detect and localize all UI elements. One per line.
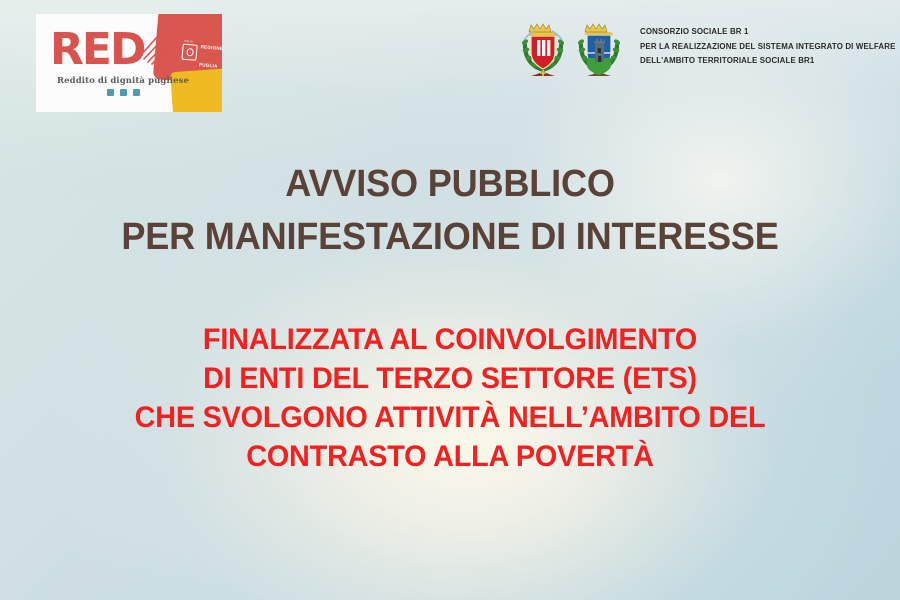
regione-puglia-seal-top-text: ITALIA — [184, 40, 198, 44]
subtitle-block: FINALIZZATA AL COINVOLGIMENTO DI ENTI DE… — [0, 320, 900, 476]
hand-icon — [140, 32, 166, 66]
title-line-2: PER MANIFESTAZIONE DI INTERESSE — [23, 211, 878, 264]
red-wordmark-text: RED — [50, 24, 144, 75]
title-line-1: AVVISO PUBBLICO — [23, 158, 878, 211]
subtitle-line-3: CHE SVOLGONO ATTIVITÀ NELL’AMBITO DEL — [18, 398, 882, 437]
red-dot-2 — [120, 89, 127, 96]
red-dot-1 — [107, 89, 114, 96]
subtitle-line-4: CONTRASTO ALLA POVERTÀ — [18, 437, 882, 476]
consorzio-text-block: CONSORZIO SOCIALE BR 1 PER LA REALIZZAZI… — [640, 18, 896, 69]
red-tagline: Reddito di dignità pugliese — [48, 76, 198, 86]
regione-puglia-seal-icon: ITALIA — [181, 44, 197, 61]
red-wordmark-graphic: RED — [50, 28, 162, 74]
page-title: AVVISO PUBBLICO PER MANIFESTAZIONE DI IN… — [0, 158, 900, 264]
red-dots-decoration — [48, 89, 198, 96]
regione-puglia-line1: REGIONE — [200, 44, 222, 51]
consorzio-line-2: PER LA REALIZZAZIONE DEL SISTEMA INTEGRA… — [640, 40, 896, 55]
red-dot-3 — [133, 89, 140, 96]
consorzio-header: CONSORZIO SOCIALE BR 1 PER LA REALIZZAZI… — [516, 18, 896, 80]
regione-puglia-label: ITALIA REGIONE PUGLIA — [181, 34, 222, 75]
presentation-slide: ITALIA REGIONE PUGLIA RED Reddito di dig… — [0, 0, 900, 600]
red-logo-box: ITALIA REGIONE PUGLIA RED Reddito di dig… — [36, 14, 222, 112]
consorzio-line-1: CONSORZIO SOCIALE BR 1 — [640, 25, 896, 40]
consorzio-line-3: DELL'AMBITO TERRITORIALE SOCIALE BR1 — [640, 54, 896, 69]
subtitle-line-2: DI ENTI DEL TERZO SETTORE (ETS) — [18, 359, 882, 398]
stemma-comune-icon — [572, 18, 626, 80]
regione-puglia-name: REGIONE PUGLIA — [198, 35, 222, 73]
stemma-brindisi-icon — [516, 18, 570, 80]
regione-puglia-line2: PUGLIA — [199, 62, 218, 69]
subtitle-line-1: FINALIZZATA AL COINVOLGIMENTO — [18, 320, 882, 359]
